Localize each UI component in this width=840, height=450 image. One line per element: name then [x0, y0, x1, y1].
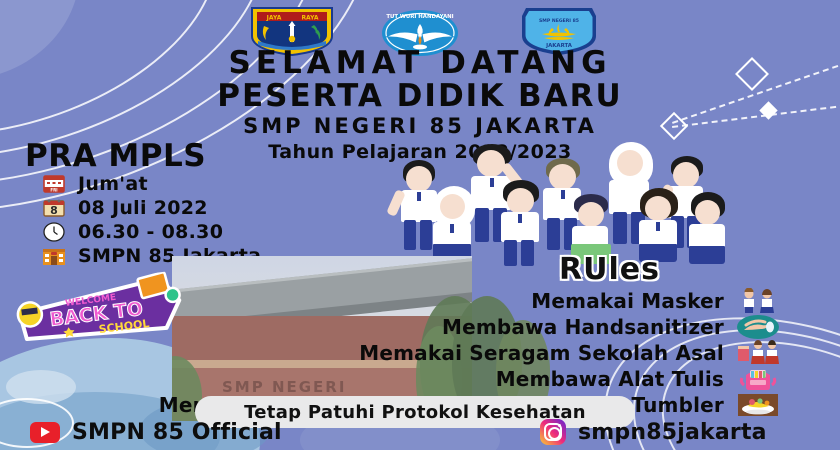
students-illustration: [385, 132, 720, 260]
handwash-icon: [736, 314, 780, 340]
social-instagram[interactable]: smpn85jakarta: [540, 419, 767, 445]
rule-item: Membawa Alat Tulis: [80, 366, 780, 391]
students-pair-icon: [736, 288, 780, 314]
headline-line-2: PESERTA DIDIK BARU: [0, 81, 840, 113]
event-detail-row: 8 08 Juli 2022: [38, 196, 261, 219]
svg-text:FRI: FRI: [50, 187, 58, 192]
event-detail-row: FRI Jum'at: [38, 172, 261, 195]
poster-canvas: JAYA RAYA TUT WURI HANDAYANI SMP NEGERI …: [0, 0, 840, 450]
svg-text:RAYA: RAYA: [301, 15, 318, 22]
school-bag-icon: [736, 366, 780, 392]
event-detail-value: 06.30 - 08.30: [78, 221, 223, 243]
event-detail-row: 06.30 - 08.30: [38, 220, 261, 243]
calendar-icon: FRI: [38, 172, 70, 195]
instagram-handle: smpn85jakarta: [578, 420, 767, 445]
event-detail-value: Jum'at: [78, 173, 148, 195]
rule-text: Memakai Seragam Sekolah Asal: [359, 341, 724, 365]
svg-text:8: 8: [50, 204, 58, 217]
svg-text:TUT WURI HANDAYANI: TUT WURI HANDAYANI: [386, 14, 453, 20]
youtube-handle: SMPN 85 Official: [72, 420, 282, 445]
health-protocol-text: Tetap Patuhi Protokol Kesehatan: [244, 402, 586, 423]
youtube-icon[interactable]: [30, 422, 60, 443]
rule-text: Membawa Handsanitizer: [442, 315, 724, 339]
event-detail-value: 08 Juli 2022: [78, 197, 208, 219]
uniform-icon: [736, 340, 780, 366]
svg-text:JAYA: JAYA: [266, 15, 282, 22]
instagram-icon[interactable]: [540, 419, 566, 445]
date-icon: 8: [38, 196, 70, 219]
social-youtube[interactable]: SMPN 85 Official: [30, 420, 282, 445]
rules-title: RUles: [80, 252, 780, 287]
student-figure: [425, 186, 489, 260]
rule-item: Memakai Masker: [80, 288, 780, 313]
rules-section: RUles Memakai Masker Membawa Handsanitiz…: [80, 252, 780, 417]
event-title: PRA MPLS: [25, 138, 206, 174]
svg-text:SMP NEGERI 85: SMP NEGERI 85: [539, 18, 579, 24]
rule-text: Membawa Alat Tulis: [496, 367, 724, 391]
school-building-icon: [38, 244, 70, 267]
rule-item: Memakai Seragam Sekolah Asal: [80, 340, 780, 365]
rule-text: Memakai Masker: [531, 289, 724, 313]
food-icon: [736, 392, 780, 418]
headline-line-1: SELAMAT DATANG: [0, 48, 840, 80]
student-figure: [495, 180, 557, 260]
rule-item: Membawa Handsanitizer: [80, 314, 780, 339]
clock-icon: [38, 220, 70, 243]
